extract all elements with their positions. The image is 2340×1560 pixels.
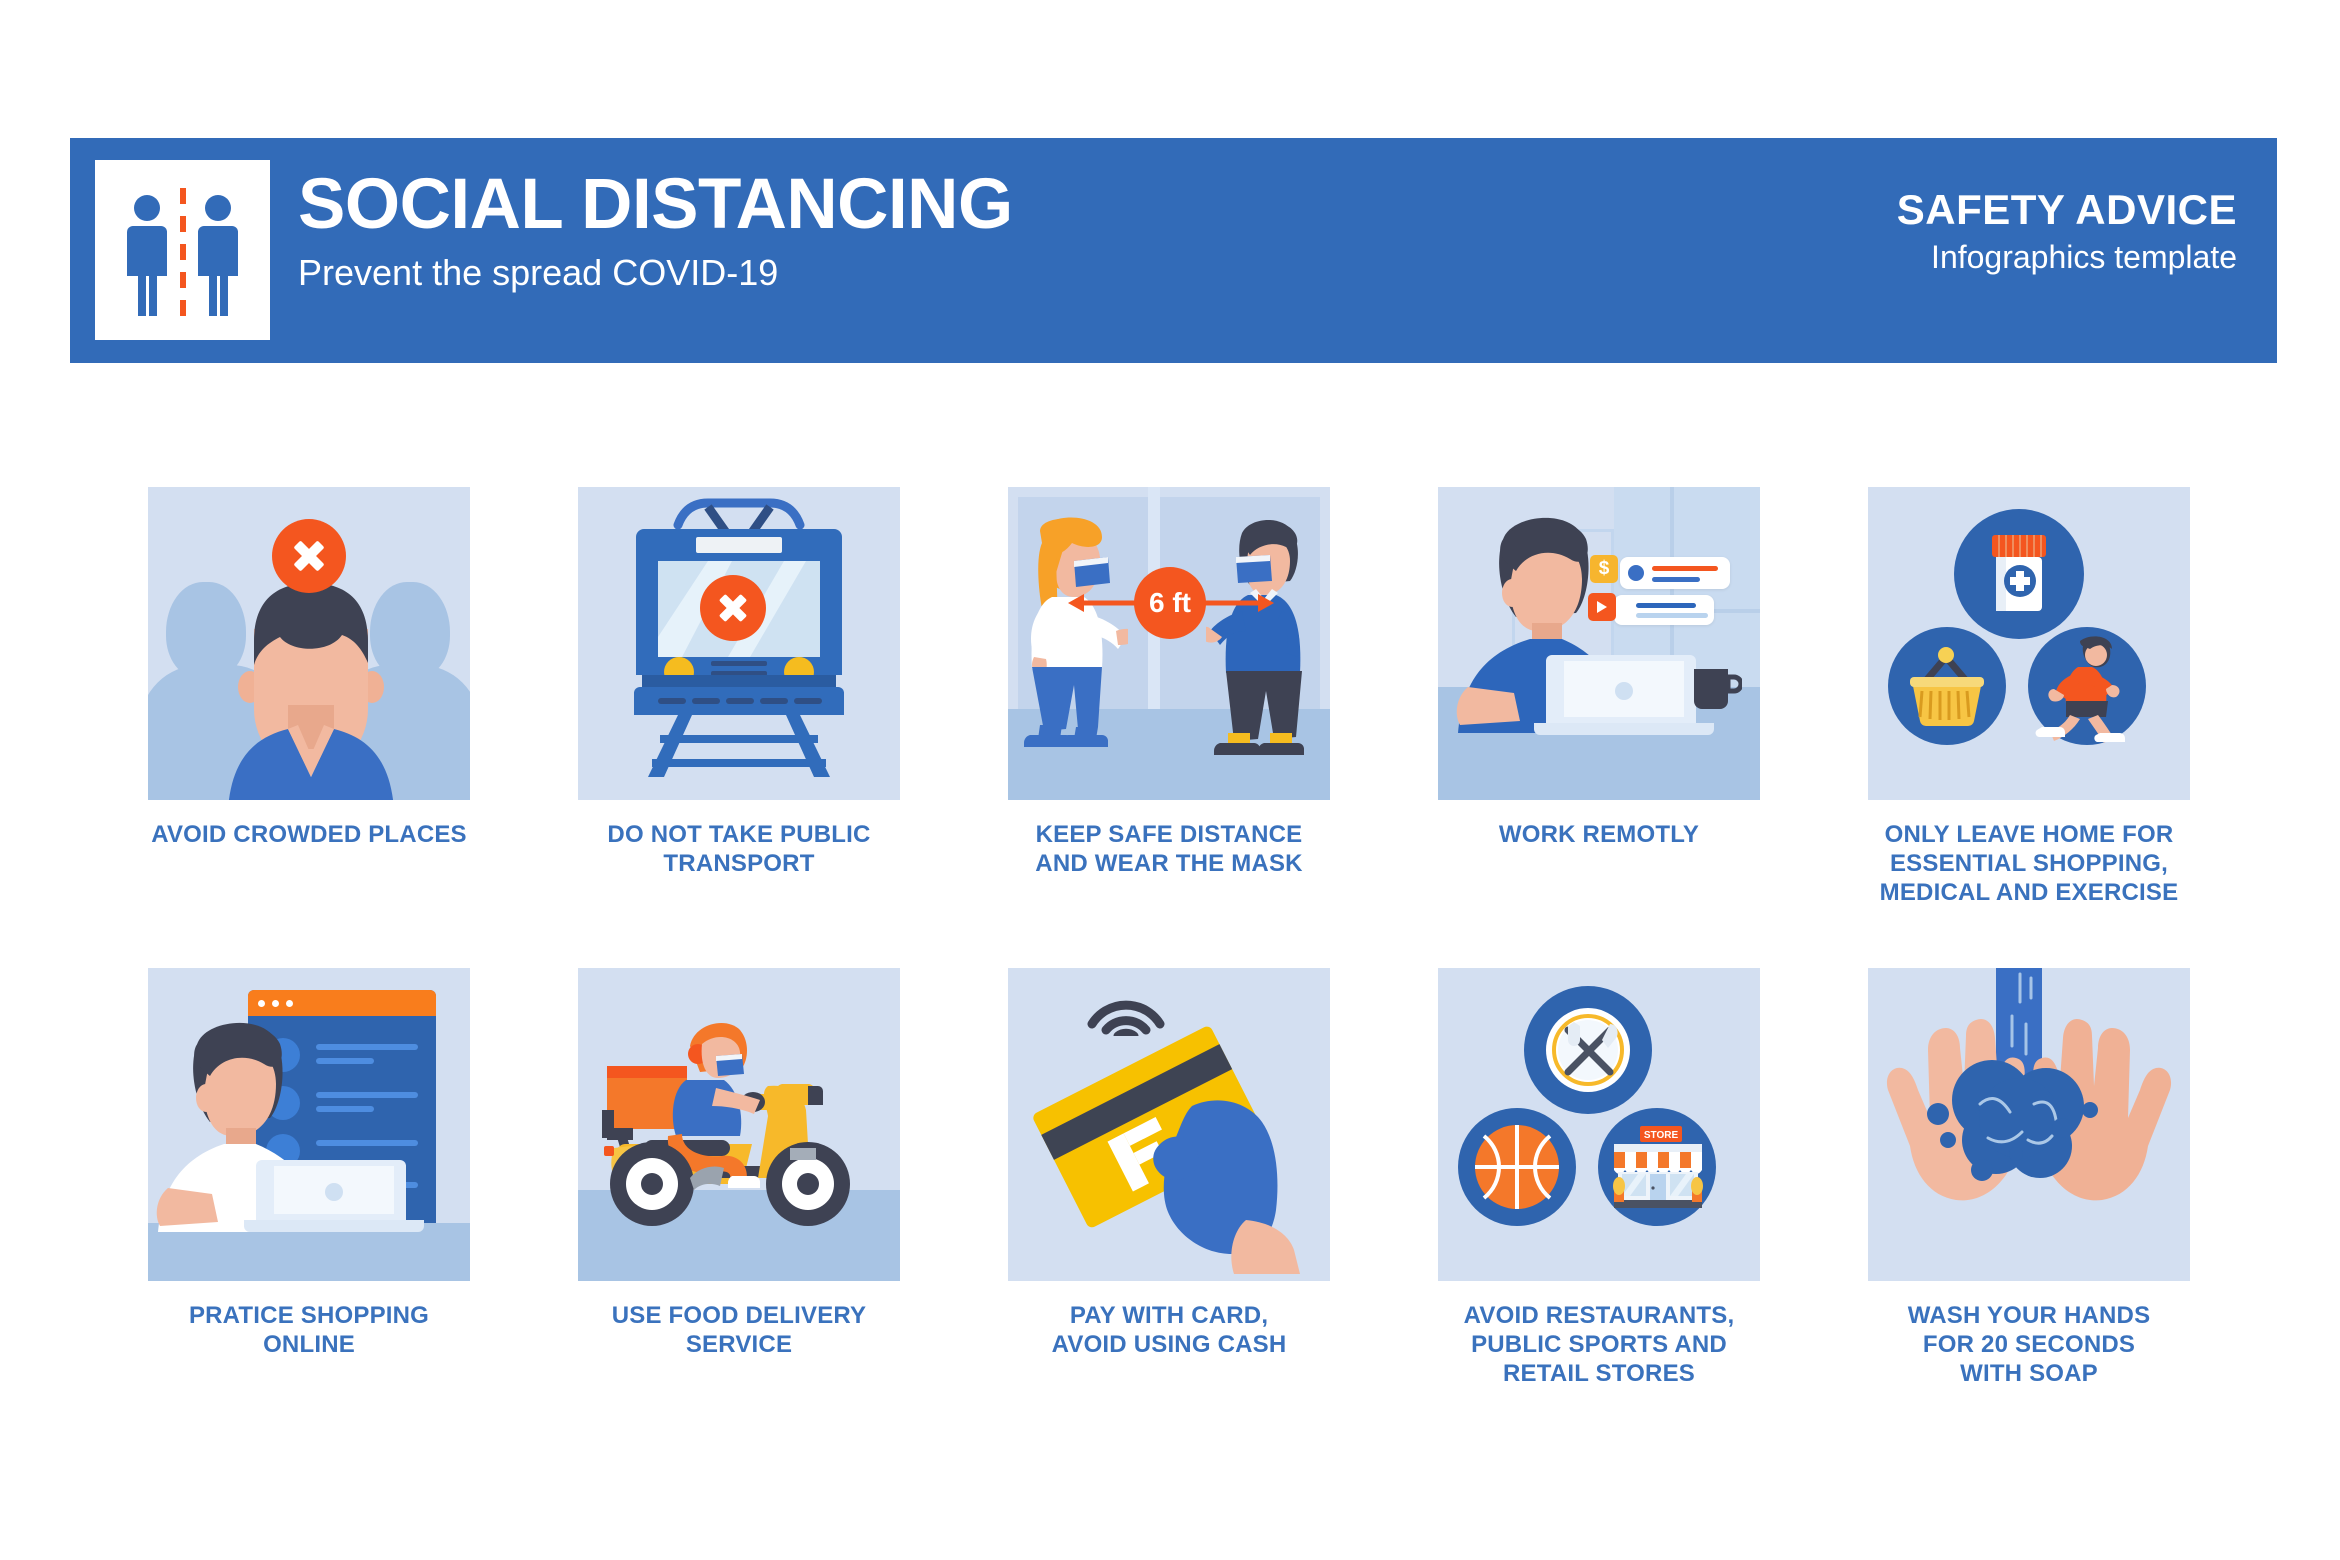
man-masked-figure	[1206, 515, 1322, 777]
illustration-delivery-scooter	[578, 968, 900, 1281]
illustration-crowd	[148, 487, 470, 800]
storefront-drawing: STORE	[1598, 1108, 1716, 1226]
illustration-contactless-payment	[1008, 968, 1330, 1281]
x-mark-badge	[272, 519, 346, 593]
medicine-bottle-icon	[1954, 509, 2084, 639]
notification-card-1	[1620, 557, 1730, 589]
card-caption: PRATICE SHOPPING ONLINE	[148, 1301, 470, 1359]
card-caption: DO NOT TAKE PUBLIC TRANSPORT	[578, 820, 900, 878]
laptop	[244, 1156, 424, 1234]
coffee-mug	[1690, 665, 1742, 713]
tram-drawing	[578, 487, 900, 800]
illustration-shopping-online	[148, 968, 470, 1281]
advice-card-avoid-venues[interactable]: STORE	[1438, 968, 1760, 1388]
text-bar	[1636, 613, 1708, 618]
advice-card-work-remotely[interactable]: $ WORK REMOTLY	[1438, 487, 1760, 849]
illustration-essential-icons	[1868, 487, 2190, 800]
dollar-icon: $	[1590, 555, 1618, 583]
storefront-icon: STORE	[1598, 1108, 1716, 1226]
advice-card-wash-hands[interactable]: WASH YOUR HANDS FOR 20 SECONDS WITH SOAP	[1868, 968, 2190, 1388]
advice-card-no-public-transport[interactable]: DO NOT TAKE PUBLIC TRANSPORT	[578, 487, 900, 878]
card-caption: ONLY LEAVE HOME FOR ESSENTIAL SHOPPING, …	[1868, 820, 2190, 907]
text-bar	[1636, 603, 1696, 608]
card-caption: WASH YOUR HANDS FOR 20 SECONDS WITH SOAP	[1868, 1301, 2190, 1388]
advice-card-food-delivery[interactable]: USE FOOD DELIVERY SERVICE	[578, 968, 900, 1359]
card-caption: AVOID RESTAURANTS, PUBLIC SPORTS AND RET…	[1438, 1301, 1760, 1388]
advice-card-essential-trips[interactable]: ONLY LEAVE HOME FOR ESSENTIAL SHOPPING, …	[1868, 487, 2190, 907]
window-dot	[258, 1000, 265, 1007]
person-illustration	[226, 579, 396, 800]
advice-card-shop-online[interactable]: PRATICE SHOPPING ONLINE	[148, 968, 470, 1359]
notification-card-2	[1614, 595, 1714, 625]
card-caption: KEEP SAFE DISTANCE AND WEAR THE MASK	[1008, 820, 1330, 878]
card-caption: AVOID CROWDED PLACES	[148, 820, 470, 849]
browser-titlebar	[248, 990, 436, 1016]
woman-masked-figure	[1018, 517, 1128, 777]
laptop	[1534, 647, 1714, 737]
play-icon	[1588, 593, 1616, 621]
window-dot	[272, 1000, 279, 1007]
x-mark-badge	[700, 575, 766, 641]
advice-card-avoid-crowded-places[interactable]: AVOID CROWDED PLACES	[148, 487, 470, 849]
svg-text:STORE: STORE	[1644, 1130, 1679, 1141]
hands-and-water-drawing	[1868, 968, 2190, 1281]
avatar-dot	[1628, 565, 1644, 581]
advice-grid: AVOID CROWDED PLACES	[0, 0, 2340, 1560]
illustration-distance: 6 ft	[1008, 487, 1330, 800]
card-caption: WORK REMOTLY	[1438, 820, 1760, 849]
runner-icon	[2028, 627, 2146, 745]
window-dot	[286, 1000, 293, 1007]
text-bar	[1652, 577, 1700, 582]
courier-on-scooter	[590, 988, 890, 1228]
basketball-icon	[1458, 1108, 1576, 1226]
illustration-avoid-venues-icons: STORE	[1438, 968, 1760, 1281]
illustration-wash-hands	[1868, 968, 2190, 1281]
distance-label: 6 ft	[1149, 587, 1191, 619]
advice-card-pay-with-card[interactable]: PAY WITH CARD, AVOID USING CASH	[1008, 968, 1330, 1359]
text-bar	[1652, 566, 1718, 571]
card-caption: PAY WITH CARD, AVOID USING CASH	[1008, 1301, 1330, 1359]
advice-card-keep-safe-distance[interactable]: 6 ft KEEP SAFE DISTANCE AND WEAR THE MAS…	[1008, 487, 1330, 878]
distance-label-badge: 6 ft	[1134, 567, 1206, 639]
plate-cutlery-icon	[1524, 986, 1652, 1114]
card-caption: USE FOOD DELIVERY SERVICE	[578, 1301, 900, 1359]
illustration-work-remotely: $	[1438, 487, 1760, 800]
shopping-basket-icon	[1888, 627, 2006, 745]
hand-holding-card	[1032, 1024, 1312, 1274]
illustration-tram	[578, 487, 900, 800]
